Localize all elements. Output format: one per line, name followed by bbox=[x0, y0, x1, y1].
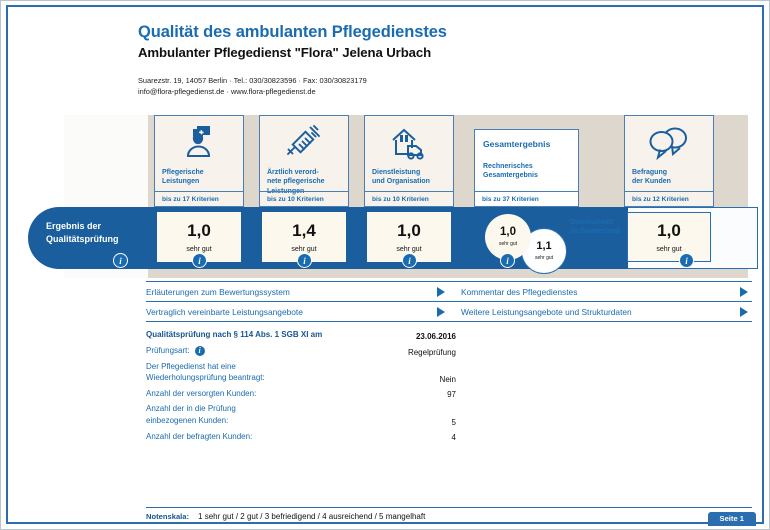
link-row: Vertraglich vereinbarte Leistungsangebot… bbox=[146, 302, 752, 322]
detail-table: Qualitätsprüfung nach § 114 Abs. 1 SGB X… bbox=[146, 329, 456, 446]
syringe-icon bbox=[260, 120, 348, 164]
score-value: 1,0 bbox=[187, 222, 211, 239]
category-card-dienstleistung-organisation[interactable]: Dienstleistung und Organisation bis zu 1… bbox=[364, 115, 454, 207]
link-label: Vertraglich vereinbarte Leistungsangebot… bbox=[146, 307, 303, 317]
link-weitere-leistungsangebote-und-strukturdaten[interactable]: Weitere Leistungsangebote und Strukturda… bbox=[449, 307, 752, 317]
chevron-right-icon bbox=[740, 287, 748, 297]
table-row: Prüfungsart: i Regelprüfung bbox=[146, 345, 456, 357]
link-kommentar-des-pflegedienstes[interactable]: Kommentar des Pflegedienstes bbox=[449, 287, 752, 297]
address-line-1: Suarezstr. 19, 14057 Berlin · Tel.: 030/… bbox=[138, 76, 758, 87]
detail-key: Prüfungsart: bbox=[146, 345, 190, 357]
category-label-line-1: Ärztlich verord- bbox=[267, 168, 343, 177]
category-card-befragung-der-kunden[interactable]: Befragung der Kunden bis zu 12 Kriterien bbox=[624, 115, 714, 207]
detail-value: Regelprüfung bbox=[408, 348, 456, 357]
link-label: Weitere Leistungsangebote und Strukturda… bbox=[461, 307, 632, 317]
criteria-count: bis zu 10 Kriterien bbox=[260, 191, 348, 206]
score-grade: sehr gut bbox=[186, 246, 211, 253]
category-label-line-2: Leistungen bbox=[162, 177, 238, 186]
address-block: Suarezstr. 19, 14057 Berlin · Tel.: 030/… bbox=[138, 76, 758, 97]
table-row: Anzahl der in die Prüfung einbezogenen K… bbox=[146, 403, 456, 426]
score-grade: sehr gut bbox=[291, 246, 316, 253]
score-value: 1,0 bbox=[500, 227, 516, 239]
detail-key: Der Pflegedienst hat eine Wiederholungsp… bbox=[146, 361, 265, 384]
info-icon-qualitaetspruefung[interactable]: i bbox=[113, 253, 128, 268]
detail-key: Anzahl der versorgten Kunden: bbox=[146, 388, 256, 400]
score-value: 1,0 bbox=[397, 222, 421, 239]
link-label: Kommentar des Pflegedienstes bbox=[461, 287, 577, 297]
provider-name: Ambulanter Pflegedienst "Flora" Jelena U… bbox=[138, 45, 758, 61]
category-label-line-1: Pflegerische bbox=[162, 168, 238, 177]
address-line-2: info@flora-pflegedienst.de · www.flora-p… bbox=[138, 87, 758, 98]
house-truck-icon bbox=[365, 120, 453, 164]
info-icon-dienstleistung-organisation[interactable]: i bbox=[402, 253, 417, 268]
link-erlaeuterungen-zum-bewertungssystem[interactable]: Erläuterungen zum Bewertungssystem bbox=[146, 287, 449, 297]
info-icon-gesamtergebnis[interactable]: i bbox=[500, 253, 515, 268]
info-icon-pflegerische-leistungen[interactable]: i bbox=[192, 253, 207, 268]
detail-key: Anzahl der befragten Kunden: bbox=[146, 431, 252, 443]
category-label-line-2: Gesamtergebnis bbox=[483, 171, 573, 180]
overall-title: Gesamtergebnis bbox=[483, 139, 550, 149]
category-label: Rechnerisches Gesamtergebnis bbox=[483, 162, 573, 181]
category-label-line-1: Rechnerisches bbox=[483, 162, 573, 171]
table-row: Anzahl der befragten Kunden: 4 bbox=[146, 431, 456, 443]
category-label-line-1: Befragung bbox=[632, 168, 708, 177]
detail-key-line-2: Wiederholungsprüfung beantragt: bbox=[146, 372, 265, 384]
detail-value: Nein bbox=[440, 375, 456, 384]
link-label: Erläuterungen zum Bewertungssystem bbox=[146, 287, 290, 297]
nurse-icon bbox=[155, 120, 243, 164]
scale-value: 1 sehr gut / 2 gut / 3 befriedigend / 4 … bbox=[198, 512, 425, 521]
chevron-right-icon bbox=[437, 287, 445, 297]
page-title: Qualität des ambulanten Pflegedienstes bbox=[138, 23, 758, 42]
category-label-line-2: nete pflegerische bbox=[267, 177, 343, 186]
footer-scale: Notenskala: 1 sehr gut / 2 gut / 3 befri… bbox=[146, 512, 425, 521]
score-grade: sehr gut bbox=[396, 246, 421, 253]
score-grade: sehr gut bbox=[499, 241, 517, 247]
category-label-line-1: Dienstleistung bbox=[372, 168, 448, 177]
detail-key: Qualitätsprüfung nach § 114 Abs. 1 SGB X… bbox=[146, 329, 322, 341]
link-rows: Erläuterungen zum Bewertungssystem Komme… bbox=[146, 281, 752, 322]
criteria-count: bis zu 37 Kriterien bbox=[475, 191, 578, 206]
link-vertraglich-vereinbarte-leistungsangebote[interactable]: Vertraglich vereinbarte Leistungsangebot… bbox=[146, 307, 449, 317]
detail-key-group: Prüfungsart: i bbox=[146, 345, 206, 357]
detail-value: 5 bbox=[452, 418, 456, 427]
detail-key-line-1: Anzahl der in die Prüfung bbox=[146, 403, 236, 415]
detail-key-line-1: Der Pflegedienst hat eine bbox=[146, 361, 265, 373]
category-label: Pflegerische Leistungen bbox=[162, 168, 238, 187]
category-label-line-2: und Organisation bbox=[372, 177, 448, 186]
category-card-aerztlich-verordnete-leistungen[interactable]: Ärztlich verord- nete pflegerische Leist… bbox=[259, 115, 349, 207]
chevron-right-icon bbox=[740, 307, 748, 317]
table-row: Qualitätsprüfung nach § 114 Abs. 1 SGB X… bbox=[146, 329, 456, 341]
speech-bubbles-icon bbox=[625, 120, 713, 164]
detail-value: 97 bbox=[447, 390, 456, 399]
table-row: Der Pflegedienst hat eine Wiederholungsp… bbox=[146, 361, 456, 384]
criteria-count: bis zu 10 Kriterien bbox=[365, 191, 453, 206]
detail-value: 4 bbox=[452, 433, 456, 442]
detail-key-line-2: einbezogenen Kunden: bbox=[146, 415, 236, 427]
info-icon-pruefungsart[interactable]: i bbox=[194, 345, 206, 357]
category-label: Befragung der Kunden bbox=[632, 168, 708, 187]
criteria-count: bis zu 12 Kriterien bbox=[625, 191, 713, 206]
page-border: Qualität des ambulanten Pflegedienstes A… bbox=[6, 5, 764, 524]
chevron-right-icon bbox=[437, 307, 445, 317]
average-score-value: 1,1 bbox=[536, 241, 551, 252]
header: Qualität des ambulanten Pflegedienstes A… bbox=[138, 23, 758, 98]
criteria-count: bis zu 17 Kriterien bbox=[155, 191, 243, 206]
footer-divider bbox=[146, 507, 752, 508]
score-box-befragung-der-kunden: 1,0 sehr gut bbox=[627, 212, 711, 262]
category-label-line-2: der Kunden bbox=[632, 177, 708, 186]
detail-value: 23.06.2016 bbox=[416, 332, 456, 341]
score-value: 1,4 bbox=[292, 222, 316, 239]
score-value: 1,0 bbox=[657, 222, 681, 239]
category-label: Dienstleistung und Organisation bbox=[372, 168, 448, 187]
average-score-grade: sehr gut bbox=[535, 255, 553, 261]
detail-key: Anzahl der in die Prüfung einbezogenen K… bbox=[146, 403, 236, 426]
page-badge: Seite 1 bbox=[708, 512, 756, 526]
table-row: Anzahl der versorgten Kunden: 97 bbox=[146, 388, 456, 400]
scale-label: Notenskala: bbox=[146, 512, 189, 521]
category-card-gesamtergebnis[interactable]: Gesamtergebnis Rechnerisches Gesamtergeb… bbox=[474, 129, 579, 207]
score-grade: sehr gut bbox=[656, 246, 681, 253]
info-icon-aerztlich-verordnete-leistungen[interactable]: i bbox=[297, 253, 312, 268]
document-page: Qualität des ambulanten Pflegedienstes A… bbox=[0, 0, 770, 530]
category-card-pflegerische-leistungen[interactable]: Pflegerische Leistungen bis zu 17 Kriter… bbox=[154, 115, 244, 207]
link-row: Erläuterungen zum Bewertungssystem Komme… bbox=[146, 281, 752, 302]
info-icon-befragung-der-kunden[interactable]: i bbox=[679, 253, 694, 268]
